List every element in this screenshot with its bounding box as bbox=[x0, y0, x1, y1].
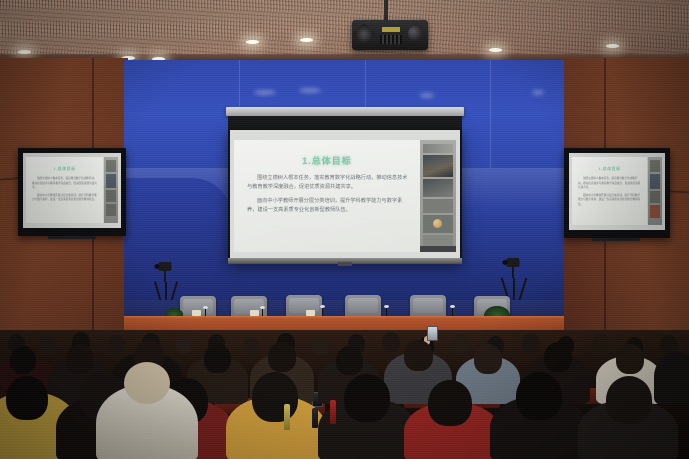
video-tile bbox=[106, 204, 116, 216]
panel-chair bbox=[286, 295, 322, 317]
audience-head bbox=[312, 336, 329, 355]
audience-head bbox=[6, 376, 48, 420]
downlight-icon bbox=[489, 48, 502, 52]
audience-head bbox=[66, 344, 94, 374]
wall-specular-highlight bbox=[532, 90, 544, 95]
projector-mount bbox=[384, 0, 388, 22]
audience-head bbox=[404, 340, 433, 371]
slide-body: 围绕立德树人根本任务，落实教育数字化战略行动，推动信息技术与教育教学深度融合，促… bbox=[247, 174, 409, 220]
monitor-slide-body: 围绕立德树人根本任务，落实教育数字化战略行动，推动信息技术与教育教学深度融合，促… bbox=[578, 177, 641, 211]
audience-head bbox=[40, 336, 56, 354]
video-tile bbox=[650, 191, 660, 203]
thermos-bottle bbox=[330, 400, 336, 424]
table-nameplate bbox=[192, 310, 201, 316]
audience-head bbox=[243, 337, 259, 355]
thermos-bottle bbox=[312, 408, 318, 428]
audience-head bbox=[252, 372, 298, 422]
audience-shoulders bbox=[654, 352, 689, 404]
conference-hall-photo: 1.总体目标 围绕立德树人根本任务，落实教育数字化战略行动，推动信息技术与教育教… bbox=[0, 0, 689, 459]
thermos-bottle bbox=[284, 404, 290, 430]
audience-head bbox=[616, 344, 644, 374]
audience-head bbox=[428, 380, 472, 426]
wall-specular-highlight bbox=[420, 93, 434, 98]
downlight-icon bbox=[246, 40, 259, 44]
video-toolbar bbox=[420, 246, 456, 252]
participant-avatar bbox=[433, 219, 442, 228]
projector-lens-icon bbox=[353, 23, 376, 46]
table-nameplate bbox=[306, 310, 315, 316]
monitor-stand-left bbox=[48, 236, 96, 239]
camera-lens-icon bbox=[503, 260, 508, 265]
video-tile bbox=[423, 155, 453, 177]
audience-head bbox=[606, 376, 652, 424]
audience-head bbox=[108, 335, 125, 354]
audience-head bbox=[336, 346, 363, 375]
video-conference-sidebar bbox=[420, 140, 456, 252]
monitor-slide-title: 1.总体目标 bbox=[572, 166, 647, 172]
video-tile bbox=[423, 199, 453, 213]
wall-specular-highlight bbox=[299, 88, 321, 93]
video-tile bbox=[106, 160, 116, 172]
slide-paragraph: 围绕立德树人根本任务，落实教育数字化战略行动，推动信息技术与教育教学深度融合，促… bbox=[247, 174, 409, 192]
monitor-stand-right bbox=[592, 238, 640, 241]
raised-phone bbox=[427, 326, 438, 341]
screen-housing bbox=[226, 107, 464, 116]
downlight-icon bbox=[606, 44, 619, 48]
wall-monitor-left: 1.总体目标 围绕立德树人根本任务，落实教育数字化战略行动，推动信息技术与教育教… bbox=[18, 148, 126, 236]
video-tile bbox=[423, 144, 453, 153]
wall-monitor-right: 1.总体目标 围绕立德树人根本任务，落实教育数字化战略行动，推动信息技术与教育教… bbox=[564, 148, 670, 238]
slide-title: 1.总体目标 bbox=[234, 154, 420, 167]
downlight-icon bbox=[18, 50, 31, 54]
video-tile bbox=[650, 174, 660, 189]
audience-head bbox=[452, 334, 469, 353]
projector-label bbox=[382, 27, 400, 32]
downlight-icon bbox=[300, 38, 313, 42]
slide-paragraph: 面向中小学教师开展分层分类培训，提升学科教学能力与数字素养，建设一支高素质专业化… bbox=[247, 197, 409, 215]
panel-chair bbox=[410, 295, 446, 317]
audience-head bbox=[522, 333, 540, 353]
projection-screen: 1.总体目标 围绕立德树人根本任务，落实教育数字化战略行动，推动信息技术与教育教… bbox=[230, 130, 460, 260]
audience-head bbox=[268, 342, 296, 372]
monitor-slide-paragraph: 面向中小学教师开展分层分类培训，提升学科教学能力与数字素养，建设一支高素质专业化… bbox=[32, 194, 97, 203]
monitor-screen-left: 1.总体目标 围绕立德树人根本任务，落实教育数字化战略行动，推动信息技术与教育教… bbox=[23, 153, 121, 228]
video-tile bbox=[423, 179, 453, 197]
screen-pull-tab bbox=[338, 262, 352, 266]
monitor-slide-paragraph: 围绕立德树人根本任务，落实教育数字化战略行动，推动信息技术与教育教学深度融合，促… bbox=[32, 177, 97, 191]
tripod-column bbox=[512, 266, 514, 278]
monitor-video-panel-left bbox=[104, 157, 118, 223]
monitor-slide-paragraph: 围绕立德树人根本任务，落实教育数字化战略行动，推动信息技术与教育教学深度融合，促… bbox=[578, 177, 641, 191]
audience-head bbox=[474, 344, 502, 374]
camera-lens-icon bbox=[155, 264, 160, 269]
presentation-slide: 1.总体目标 围绕立德树人根本任务，落实教育数字化战略行动，推动信息技术与教育教… bbox=[234, 140, 420, 252]
audience-head bbox=[10, 346, 36, 374]
audience-head bbox=[592, 334, 609, 353]
audience-head bbox=[382, 332, 400, 352]
panel-chair bbox=[345, 295, 381, 317]
projector-vent bbox=[380, 35, 402, 44]
monitor-video-panel-right bbox=[648, 157, 662, 225]
blue-panel-divider bbox=[489, 60, 491, 168]
table-microphone bbox=[322, 307, 323, 316]
ceiling-panel-secondary bbox=[0, 0, 689, 46]
ceiling-projector bbox=[352, 20, 428, 50]
video-tile bbox=[106, 174, 116, 188]
audience-head bbox=[516, 372, 562, 420]
video-tile bbox=[650, 205, 660, 218]
video-tile bbox=[106, 190, 116, 202]
projector-secondary-lens-icon bbox=[408, 26, 422, 41]
table-nameplate bbox=[250, 310, 259, 316]
monitor-slide-title: 1.总体目标 bbox=[26, 166, 103, 172]
monitor-slide-left: 1.总体目标 围绕立德树人根本任务，落实教育数字化战略行动，推动信息技术与教育教… bbox=[26, 157, 103, 223]
audience-head bbox=[204, 344, 231, 373]
monitor-slide-body: 围绕立德树人根本任务，落实教育数字化战略行动，推动信息技术与教育教学深度融合，促… bbox=[32, 177, 97, 206]
table-microphone bbox=[386, 307, 387, 316]
table-microphone bbox=[452, 307, 453, 316]
tripod-column bbox=[164, 270, 166, 282]
audience-head bbox=[176, 336, 192, 354]
monitor-slide-right: 1.总体目标 围绕立德树人根本任务，落实教育数字化战略行动，推动信息技术与教育教… bbox=[572, 157, 647, 225]
audience-head bbox=[544, 342, 572, 372]
video-tile bbox=[650, 160, 660, 172]
wall-specular-highlight bbox=[254, 90, 276, 95]
monitor-slide-paragraph: 面向中小学教师开展分层分类培训，提升学科教学能力与数字素养，建设一支高素质专业化… bbox=[578, 194, 641, 208]
audience-head bbox=[124, 362, 170, 404]
monitor-screen-right: 1.总体目标 围绕立德树人根本任务，落实教育数字化战略行动，推动信息技术与教育教… bbox=[569, 153, 665, 230]
audience-head bbox=[344, 374, 390, 422]
